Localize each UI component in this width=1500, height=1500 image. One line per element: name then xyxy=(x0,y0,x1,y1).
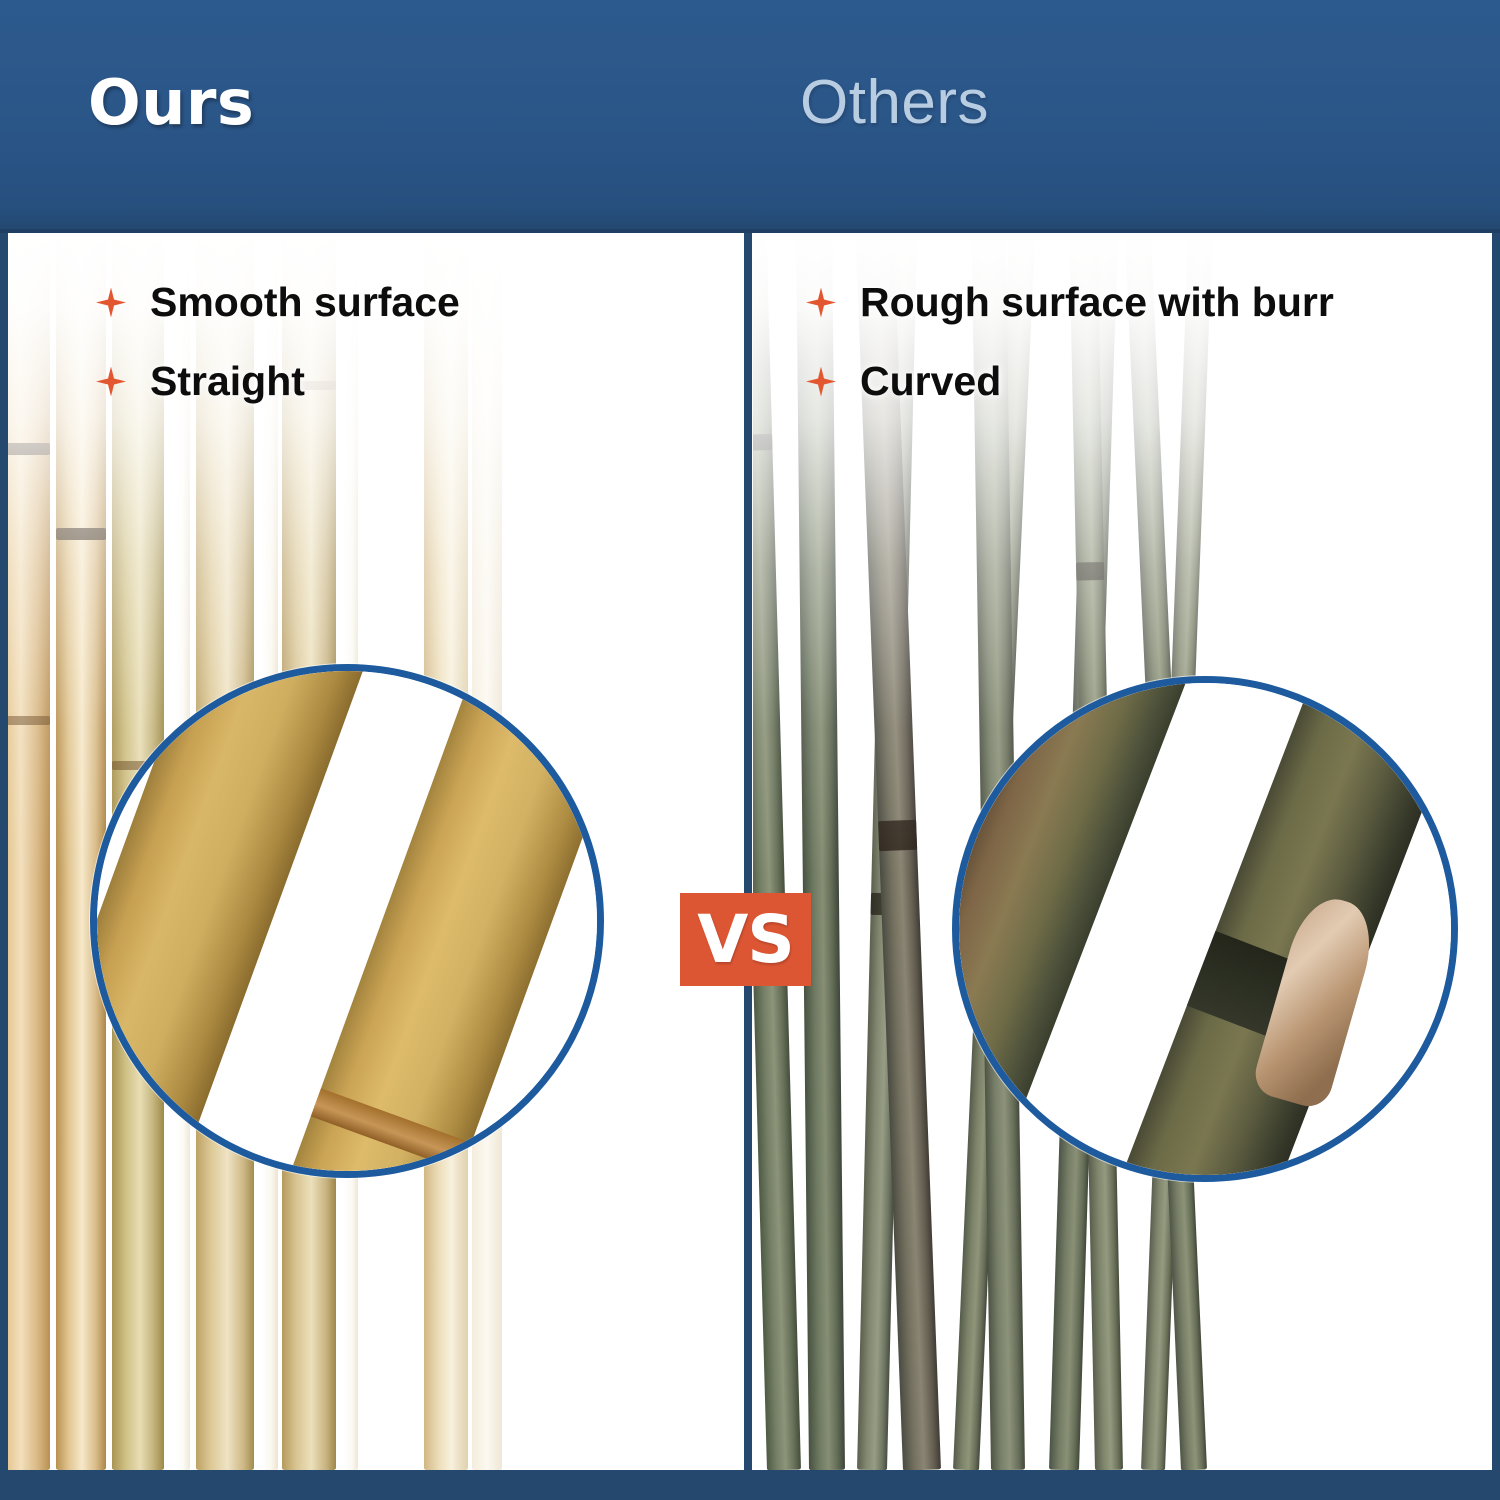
ours-magnifier-image xyxy=(97,671,597,1171)
list-item-label: Rough surface with burr xyxy=(860,282,1334,323)
star-bullet-icon xyxy=(806,288,836,318)
comparison-infographic: Smooth surface Straight xyxy=(0,0,1500,1500)
list-item: Curved xyxy=(806,361,1334,402)
star-bullet-icon xyxy=(96,367,126,397)
vs-badge: VS xyxy=(680,893,811,986)
ours-detail-magnifier xyxy=(90,664,604,1178)
list-item-label: Smooth surface xyxy=(150,282,460,323)
frame-left-rail xyxy=(0,233,8,1500)
ours-title: Ours xyxy=(88,72,254,134)
others-panel: Rough surface with burr Curved xyxy=(753,233,1500,1470)
frame-bottom-bar xyxy=(0,1470,1500,1500)
star-bullet-icon xyxy=(806,367,836,397)
frame-right-rail xyxy=(1492,233,1500,1500)
list-item: Straight xyxy=(96,361,460,402)
list-item-label: Curved xyxy=(860,361,1001,402)
ours-feature-list: Smooth surface Straight xyxy=(96,282,460,440)
rough-cane xyxy=(753,233,801,1470)
star-bullet-icon xyxy=(96,288,126,318)
others-magnifier-image xyxy=(959,683,1451,1175)
ours-panel: Smooth surface Straight xyxy=(0,233,747,1470)
vs-label: VS xyxy=(697,907,794,973)
others-feature-list: Rough surface with burr Curved xyxy=(806,282,1334,440)
others-detail-magnifier xyxy=(952,676,1458,1182)
list-item-label: Straight xyxy=(150,361,305,402)
list-item: Smooth surface xyxy=(96,282,460,323)
others-title: Others xyxy=(800,72,989,134)
list-item: Rough surface with burr xyxy=(806,282,1334,323)
